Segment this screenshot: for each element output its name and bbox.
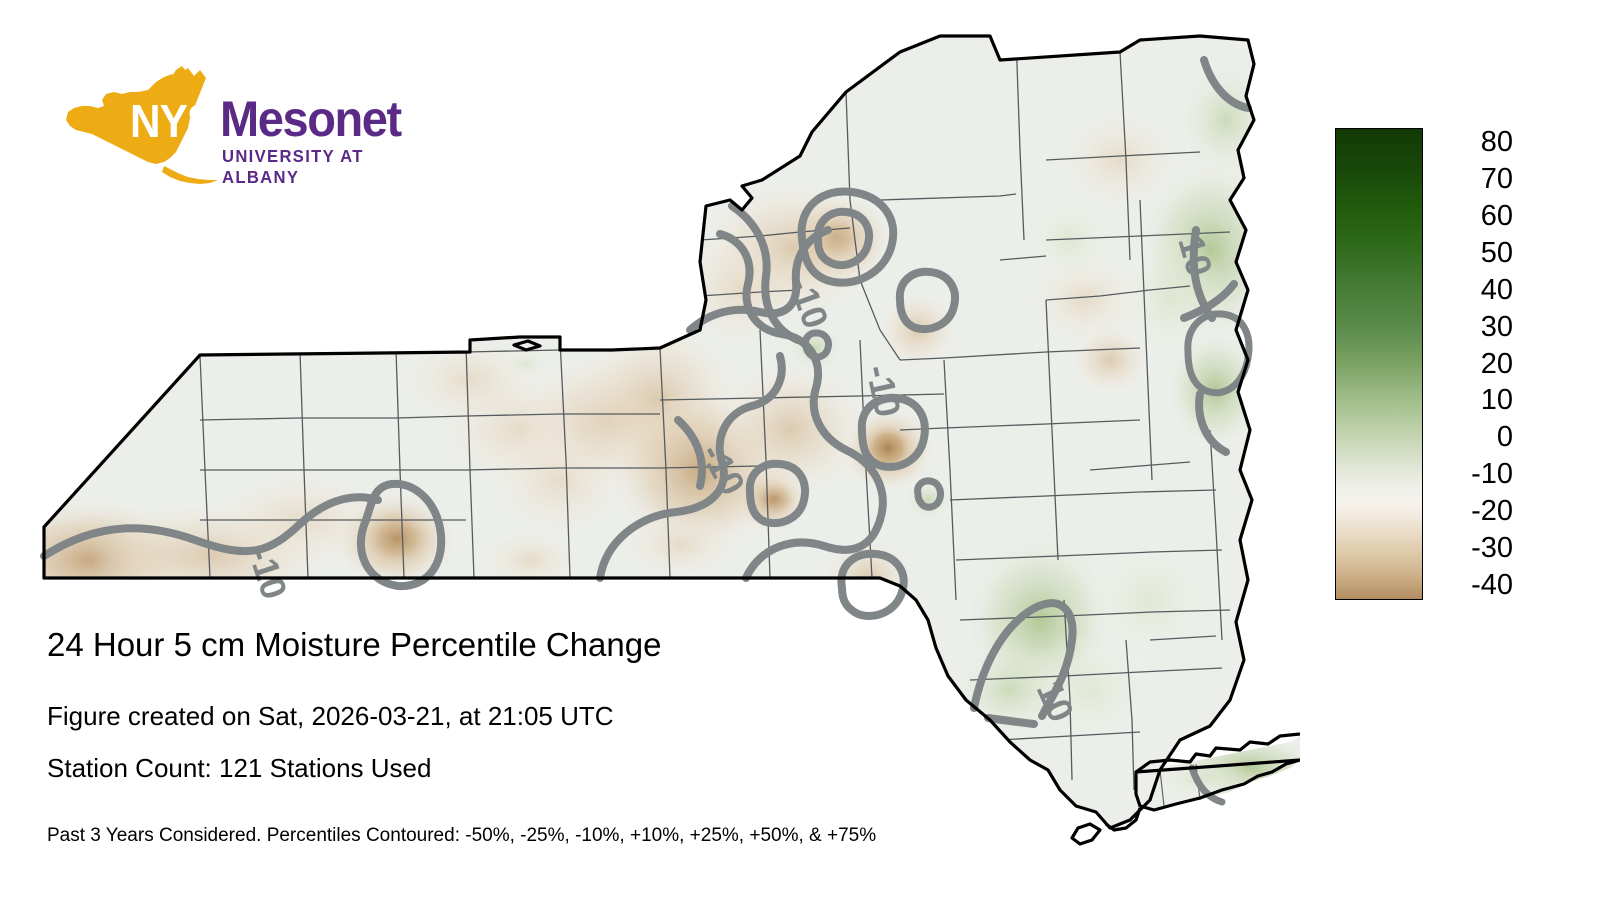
colorbar-panel: 80706050403020100-10-20-30-40 — [1330, 118, 1580, 618]
colorbar-tick: 40 — [1429, 276, 1513, 305]
colorbar-tick: -20 — [1429, 497, 1513, 526]
new-york-state-moisture-map: -10 -10 -10 -10 10 10 — [0, 0, 1300, 880]
figure-created-timestamp: Figure created on Sat, 2026-03-21, at 21… — [47, 700, 614, 732]
colorbar-tick: 50 — [1429, 239, 1513, 268]
colorbar-tick: 80 — [1429, 128, 1513, 157]
map-svg: -10 -10 -10 -10 10 10 — [0, 0, 1300, 880]
colorbar-tick-labels: 80706050403020100-10-20-30-40 — [1429, 128, 1549, 600]
colorbar-tick: 70 — [1429, 165, 1513, 194]
colorbar-tick: -30 — [1429, 534, 1513, 563]
map-shading-layer — [0, 0, 1300, 880]
colorbar-gradient — [1335, 128, 1423, 600]
page-title: 24 Hour 5 cm Moisture Percentile Change — [47, 625, 661, 665]
colorbar-tick: 10 — [1429, 386, 1513, 415]
colorbar-tick: 0 — [1429, 423, 1513, 452]
contour-footnote: Past 3 Years Considered. Percentiles Con… — [47, 824, 876, 848]
colorbar-tick: -40 — [1429, 571, 1513, 600]
colorbar-tick: 60 — [1429, 202, 1513, 231]
station-count: Station Count: 121 Stations Used — [47, 752, 431, 784]
colorbar-tick: 20 — [1429, 350, 1513, 379]
colorbar-tick: 30 — [1429, 313, 1513, 342]
colorbar-tick: -10 — [1429, 460, 1513, 489]
